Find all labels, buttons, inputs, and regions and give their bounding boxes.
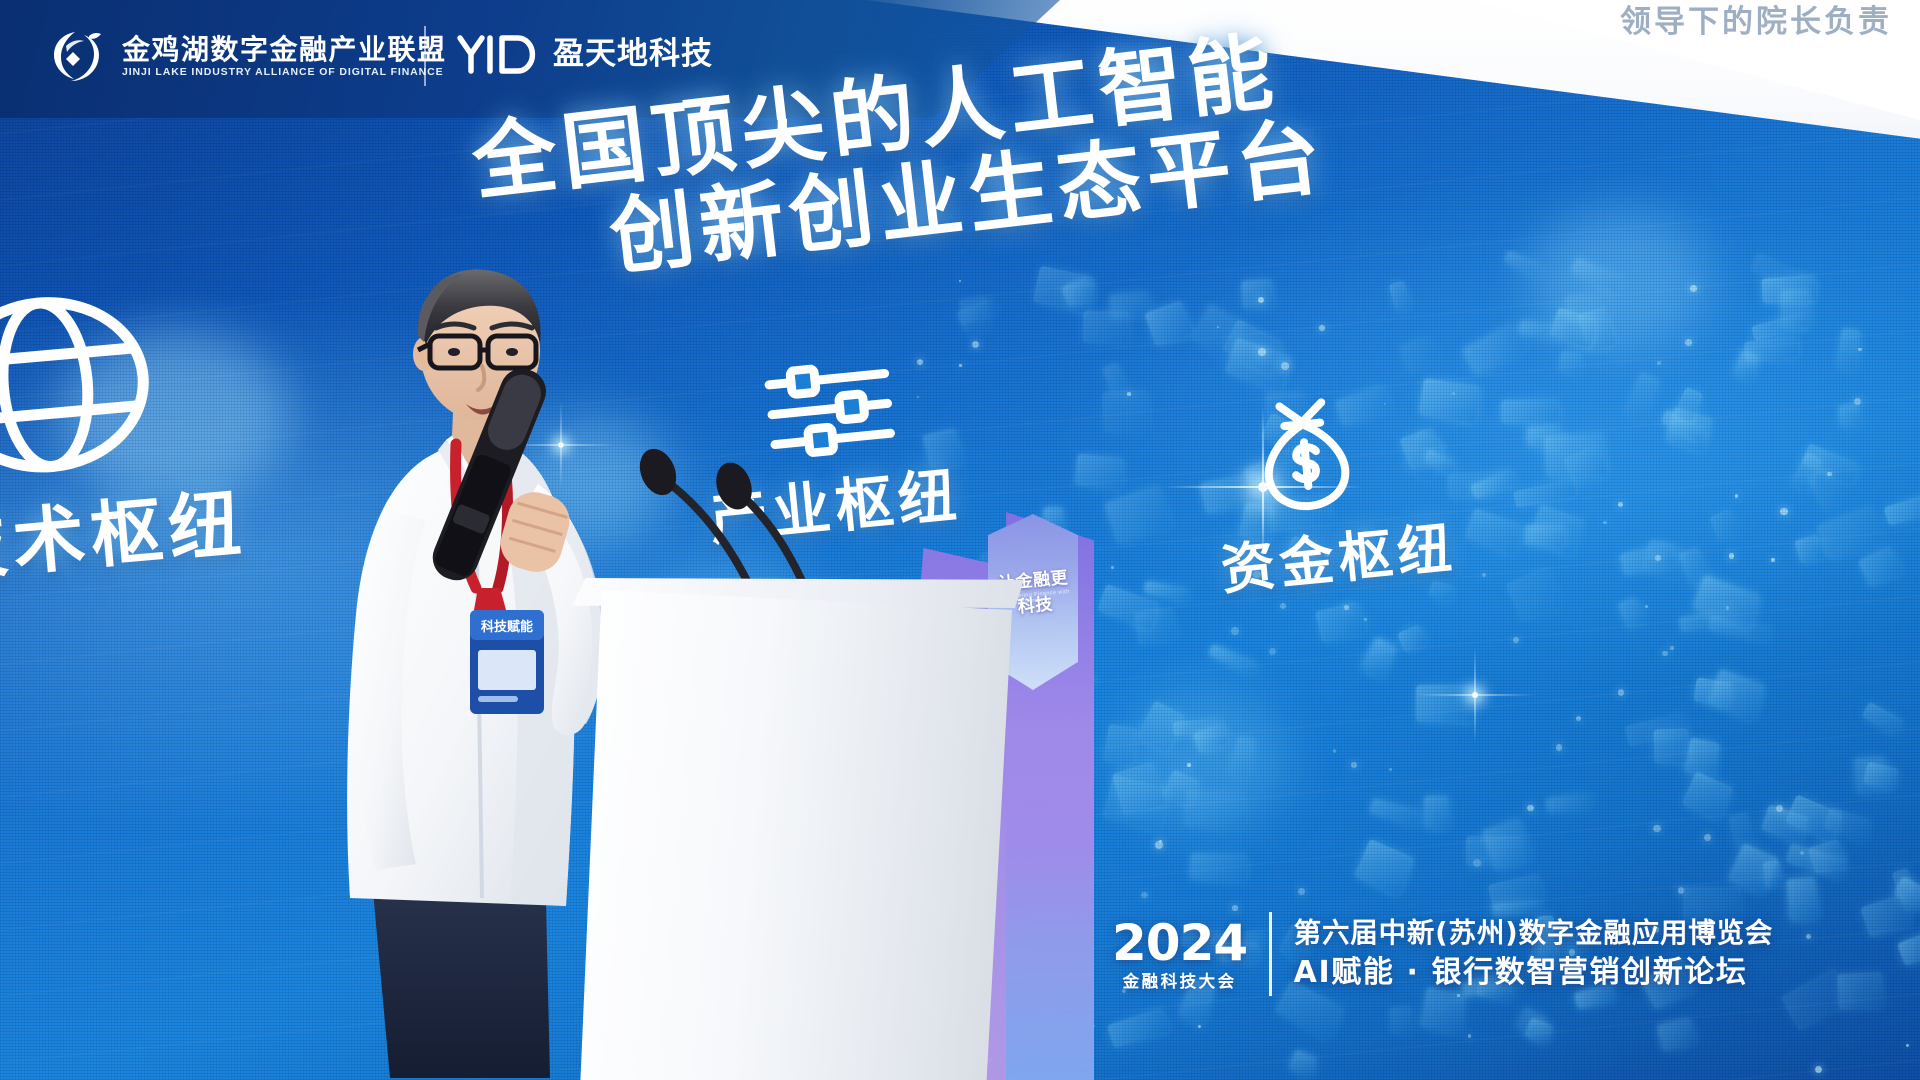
conference-lockup: 2024 金融科技大会 第六届中新(苏州)数字金融应用博览会 AI赋能 · 银行… [1112, 912, 1773, 996]
globe-icon [0, 278, 241, 490]
conference-badge: 2024 金融科技大会 [1112, 918, 1247, 991]
conference-divider [1269, 912, 1272, 996]
lens-flare-icon [1472, 692, 1478, 698]
conference-year: 2024 [1112, 918, 1247, 968]
conference-photo: 领导下的院长负责 金鸡湖数字金融产业联盟 JINJI LAKE INDUSTRY… [0, 0, 1920, 1080]
conference-title-line2: AI赋能 · 银行数智营销创新论坛 [1294, 958, 1774, 988]
alliance-name-en: JINJI LAKE INDUSTRY ALLIANCE OF DIGITAL … [122, 67, 447, 78]
logo-divider [424, 26, 426, 86]
partner-logo: 盈天地科技 [456, 32, 713, 76]
jinji-lake-swirl-logo-icon [44, 26, 106, 88]
conference-event-short: 金融科技大会 [1123, 974, 1237, 991]
alliance-logo: 金鸡湖数字金融产业联盟 JINJI LAKE INDUSTRY ALLIANCE… [44, 26, 447, 88]
partner-name-cn: 盈天地科技 [553, 39, 713, 70]
hub-tech: 技术枢纽 [0, 278, 250, 595]
svg-text:科技赋能: 科技赋能 [481, 619, 533, 635]
conference-titles: 第六届中新(苏州)数字金融应用博览会 AI赋能 · 银行数智营销创新论坛 [1294, 920, 1774, 989]
alliance-name-cn: 金鸡湖数字金融产业联盟 [122, 36, 447, 64]
alliance-logo-text: 金鸡湖数字金融产业联盟 JINJI LAKE INDUSTRY ALLIANCE… [122, 36, 447, 78]
money-bag-s-icon [1241, 381, 1452, 523]
podium-body [580, 590, 1012, 1080]
wall-printed-text: 领导下的院长负责 [1620, 0, 1892, 41]
hub-fund: 资金枢纽 [1241, 381, 1460, 602]
ytd-monogram-icon [456, 32, 540, 76]
conference-title-line1: 第六届中新(苏州)数字金融应用博览会 [1294, 920, 1774, 948]
